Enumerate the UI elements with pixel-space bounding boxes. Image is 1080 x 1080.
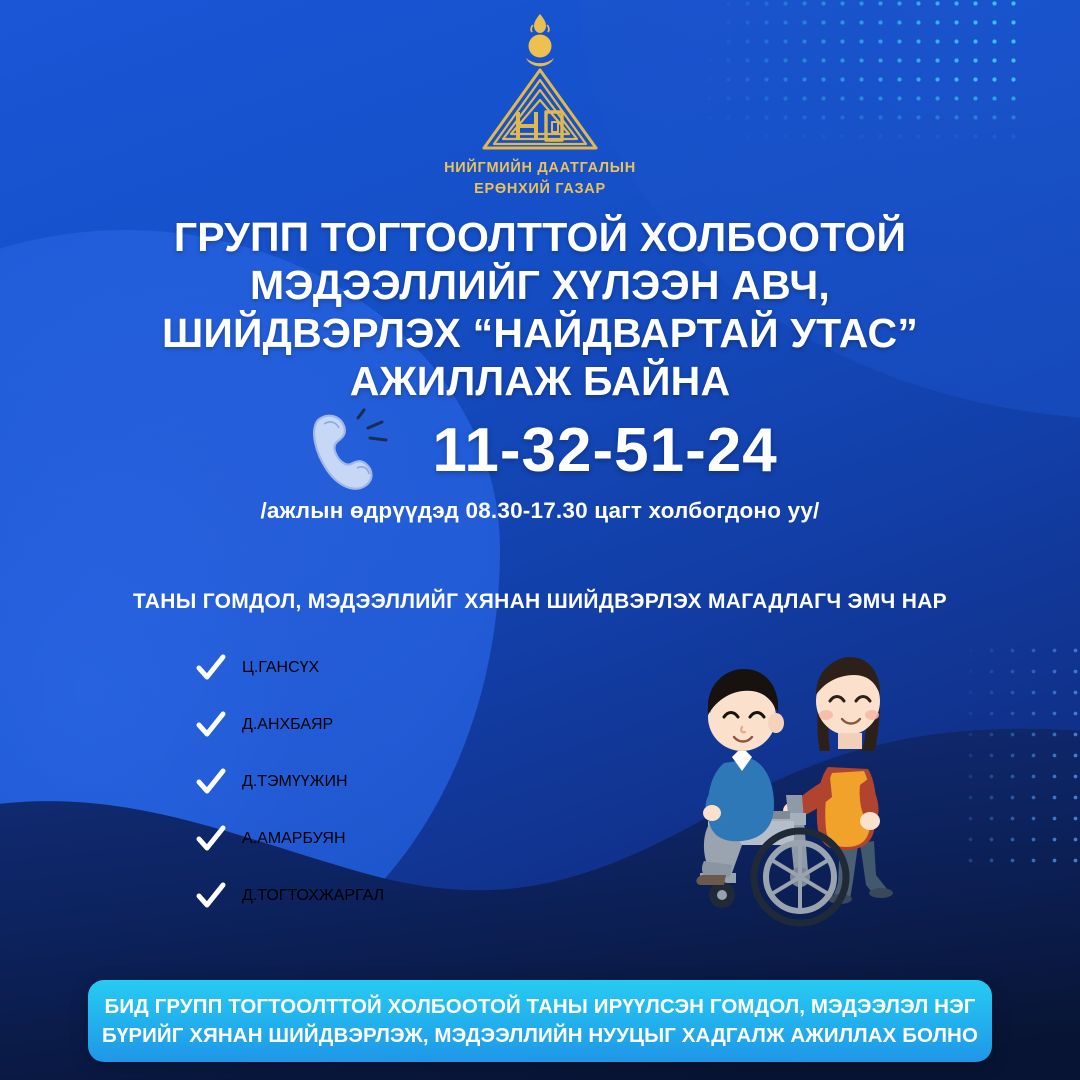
logo-text-block: НИЙГМИЙН ДААТГАЛЫН ЕРӨНХИЙ ГАЗАР [444,158,636,199]
caregiver-pushing-wheelchair-illustration [690,645,990,935]
working-hours-note: /ажлын өдрүүдэд 08.30-17.30 цагт холбогд… [0,498,1080,524]
doctors-list: Ц.ГАНСҮХ Д.АНХБАЯР Д.ТЭМҮҮЖИН А.АМАРБУЯН… [196,650,384,914]
phone-number: 11-32-51-24 [432,415,777,486]
check-icon [196,711,226,739]
headline-line-4: АЖИЛЛАЖ БАЙНА [0,358,1080,406]
footer-banner: БИД ГРУПП ТОГТООЛТТОЙ ХОЛБООТОЙ ТАНЫ ИРҮ… [88,980,992,1062]
soyombo-nd-emblem-icon [474,8,606,154]
headline-line-3: ШИЙДВЭРЛЭХ “НАЙДВАРТАЙ УТАС” [0,310,1080,358]
check-icon [196,768,226,796]
list-item: Ц.ГАНСҮХ [196,650,384,686]
headline: ГРУПП ТОГТООЛТТОЙ ХОЛБООТОЙ МЭДЭЭЛЛИЙГ Х… [0,214,1080,406]
check-icon [196,654,226,682]
doctors-section-title: ТАНЫ ГОМДОЛ, МЭДЭЭЛЛИЙГ ХЯНАН ШИЙДВЭРЛЭХ… [0,590,1080,614]
list-item: Д.АНХБАЯР [196,707,384,743]
wheelchair-user-figure [696,669,784,885]
ringing-phone-icon [302,404,398,496]
headline-line-2: МЭДЭЭЛЛИЙГ ХҮЛЭЭН АВЧ, [0,262,1080,310]
doctor-name: А.АМАРБУЯН [242,830,346,848]
check-icon [196,825,226,853]
banner-line-1: БИД ГРУПП ТОГТООЛТТОЙ ХОЛБООТОЙ ТАНЫ ИРҮ… [105,992,976,1021]
logo-line-1: НИЙГМИЙН ДААТГАЛЫН [444,158,636,179]
doctor-name: Д.АНХБАЯР [242,716,333,734]
list-item: Д.ТОГТОХЖАРГАЛ [196,878,384,914]
doctor-name: Ц.ГАНСҮХ [242,659,319,677]
doctor-name: Д.ТОГТОХЖАРГАЛ [242,887,384,905]
doctor-name: Д.ТЭМҮҮЖИН [242,773,348,791]
list-item: Д.ТЭМҮҮЖИН [196,764,384,800]
list-item: А.АМАРБУЯН [196,821,384,857]
logo-line-2: ЕРӨНХИЙ ГАЗАР [444,179,636,200]
headline-line-1: ГРУПП ТОГТООЛТТОЙ ХОЛБООТОЙ [0,214,1080,262]
check-icon [196,882,226,910]
phone-contact-row: 11-32-51-24 [0,404,1080,496]
banner-line-2: БҮРИЙГ ХЯНАН ШИЙДВЭРЛЭЖ, МЭДЭЭЛЛИЙН НУУЦ… [102,1021,978,1050]
organization-logo: НИЙГМИЙН ДААТГАЛЫН ЕРӨНХИЙ ГАЗАР [0,8,1080,199]
poster-canvas: НИЙГМИЙН ДААТГАЛЫН ЕРӨНХИЙ ГАЗАР ГРУПП Т… [0,0,1080,1080]
